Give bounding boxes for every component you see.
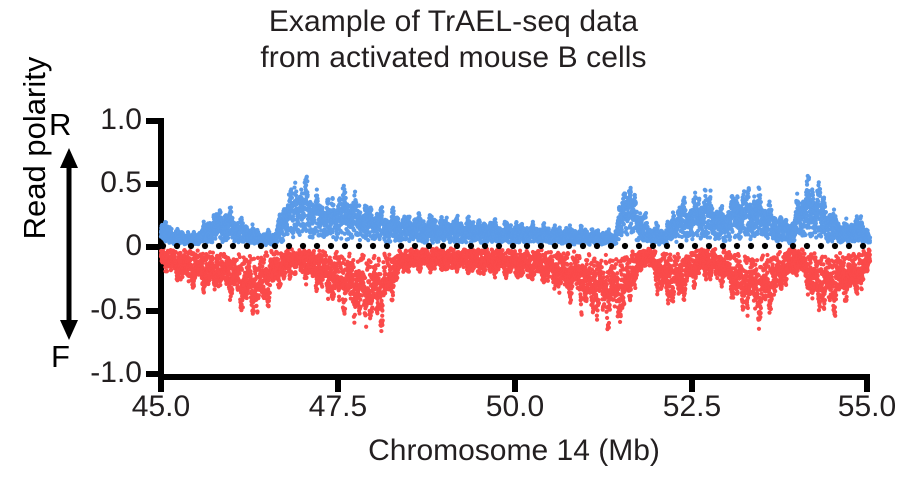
chart-figure: Example of TrAEL-seq data from activated… bbox=[0, 0, 907, 478]
scatter-plot-canvas bbox=[0, 0, 907, 478]
forward-strand-points bbox=[159, 246, 872, 333]
reverse-strand-points bbox=[159, 174, 872, 247]
